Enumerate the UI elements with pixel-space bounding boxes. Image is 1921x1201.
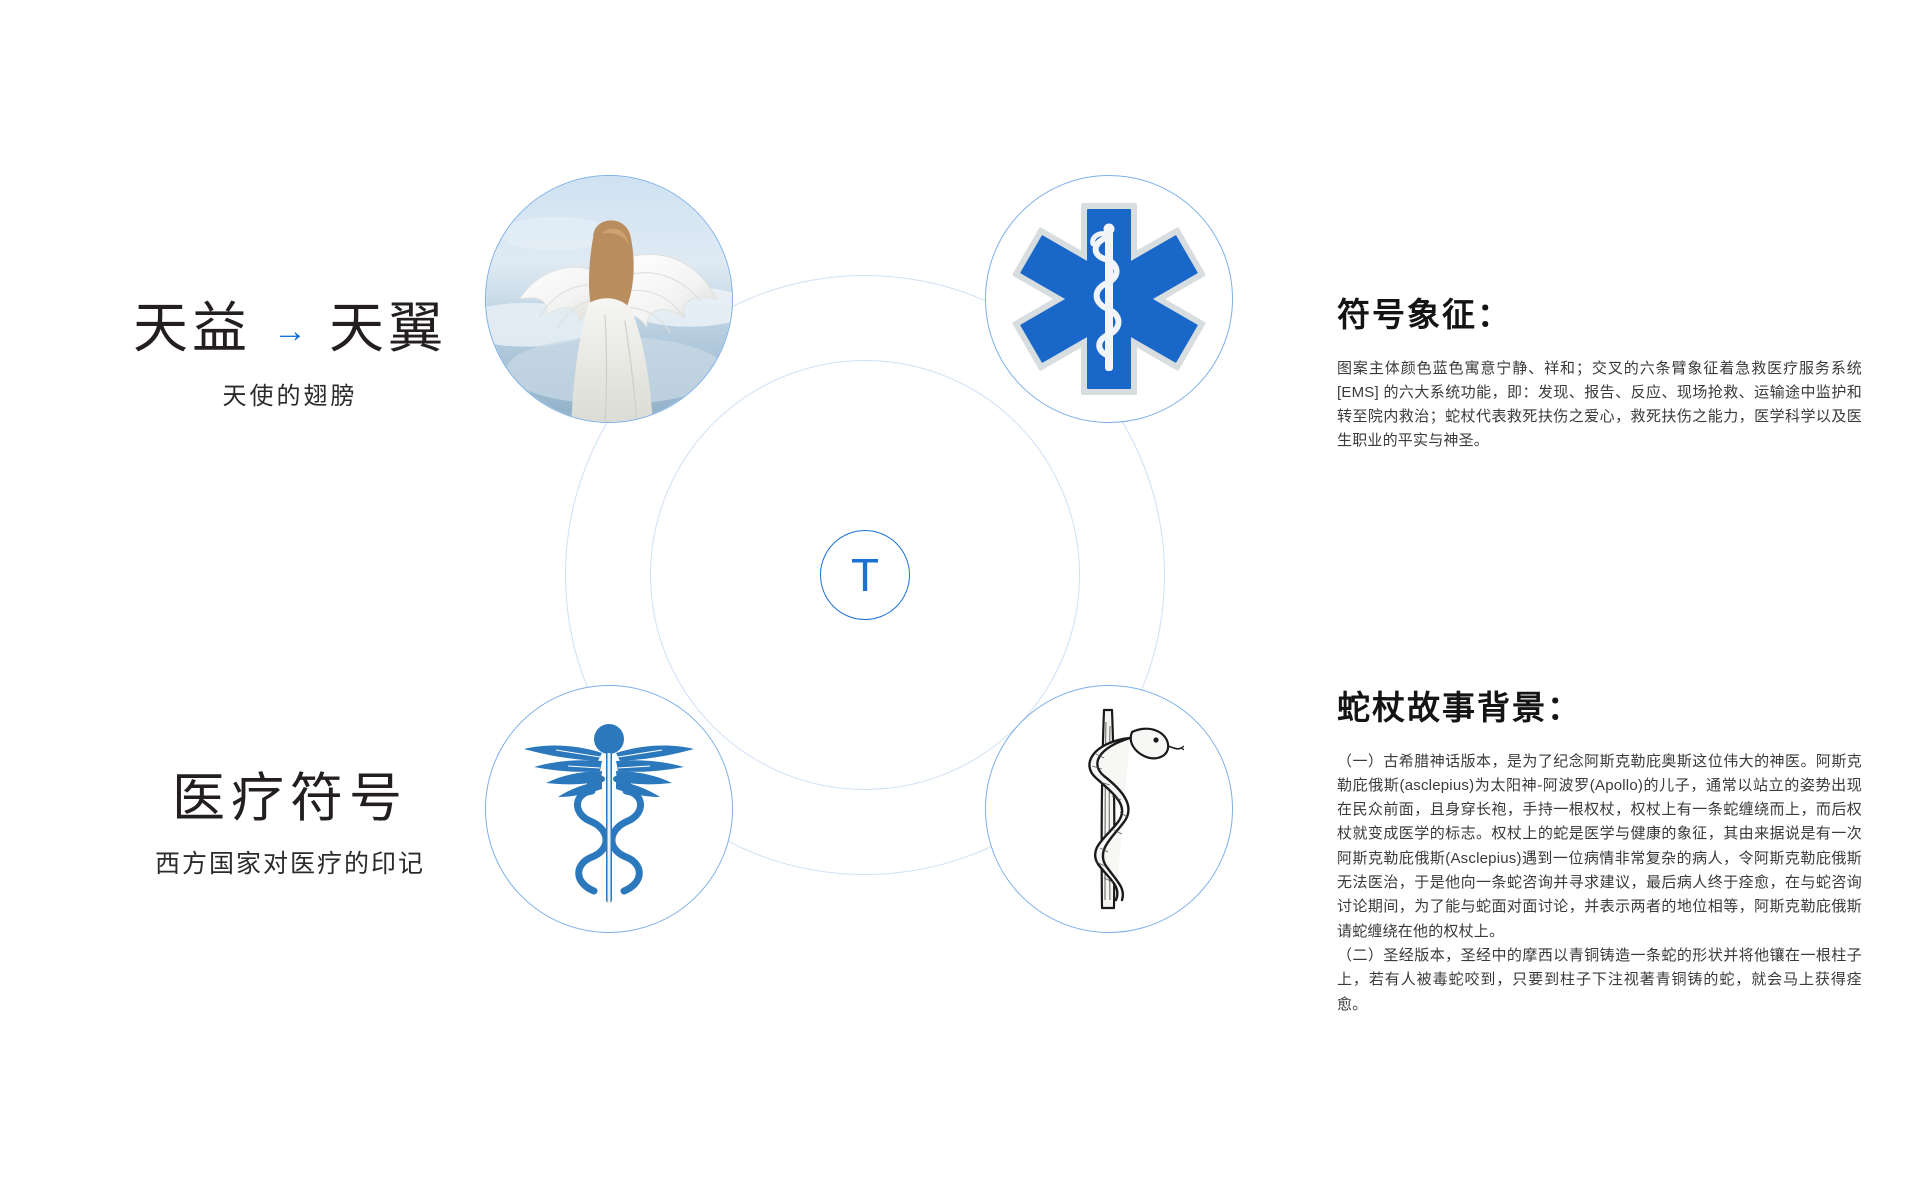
diagram-center-node[interactable]: T bbox=[820, 530, 910, 620]
brand-subtitle: 天使的翅膀 bbox=[120, 376, 460, 411]
symbolism-section: 符号象征： 图案主体颜色蓝色寓意宁静、祥和；交叉的六条臂象征着急救医疗服务系统 … bbox=[1337, 295, 1862, 454]
story-paragraph-2: （二）圣经版本，圣经中的摩西以青铜铸造一条蛇的形状并将他镶在一根柱子上，若有人被… bbox=[1337, 944, 1862, 1017]
brand-name-old: 天益 bbox=[133, 300, 251, 358]
angel-wings-photo-icon bbox=[486, 175, 732, 423]
arrow-right-icon: → bbox=[273, 314, 307, 348]
medical-symbol-title: 医疗符号 bbox=[120, 770, 460, 828]
story-paragraph-1: （一）古希腊神话版本，是为了纪念阿斯克勒庇奥斯这位伟大的神医。阿斯克勒庇俄斯(a… bbox=[1337, 750, 1862, 944]
medical-symbol-subtitle: 西方国家对医疗的印记 bbox=[120, 844, 460, 880]
symbolism-body: 图案主体颜色蓝色寓意宁静、祥和；交叉的六条臂象征着急救医疗服务系统 [EMS] … bbox=[1337, 357, 1862, 454]
brand-name-new: 天翼 bbox=[329, 300, 447, 358]
caduceus-icon bbox=[516, 709, 702, 909]
medical-symbol-block: 医疗符号 西方国家对医疗的印记 bbox=[120, 770, 460, 880]
symbolism-title: 符号象征： bbox=[1337, 295, 1862, 335]
diagram-node-rod-of-asclepius[interactable] bbox=[985, 685, 1233, 933]
slide-canvas: 天益 → 天翼 天使的翅膀 医疗符号 西方国家对医疗的印记 T bbox=[0, 0, 1921, 1201]
tianyi-t-logo-icon: T bbox=[851, 552, 879, 598]
brand-transition-block: 天益 → 天翼 天使的翅膀 bbox=[120, 300, 460, 411]
story-body: （一）古希腊神话版本，是为了纪念阿斯克勒庇奥斯这位伟大的神医。阿斯克勒庇俄斯(a… bbox=[1337, 750, 1862, 1017]
story-section: 蛇杖故事背景： （一）古希腊神话版本，是为了纪念阿斯克勒庇奥斯这位伟大的神医。阿… bbox=[1337, 688, 1862, 1017]
story-title: 蛇杖故事背景： bbox=[1337, 688, 1862, 728]
brand-row: 天益 → 天翼 bbox=[120, 300, 460, 358]
diagram-node-caduceus[interactable] bbox=[485, 685, 733, 933]
rod-of-asclepius-icon bbox=[1034, 702, 1184, 917]
diagram-node-angel[interactable] bbox=[485, 175, 733, 423]
diagram-node-star-of-life[interactable] bbox=[985, 175, 1233, 423]
star-of-life-icon bbox=[1009, 199, 1209, 399]
symbol-diagram: T bbox=[545, 215, 1185, 995]
